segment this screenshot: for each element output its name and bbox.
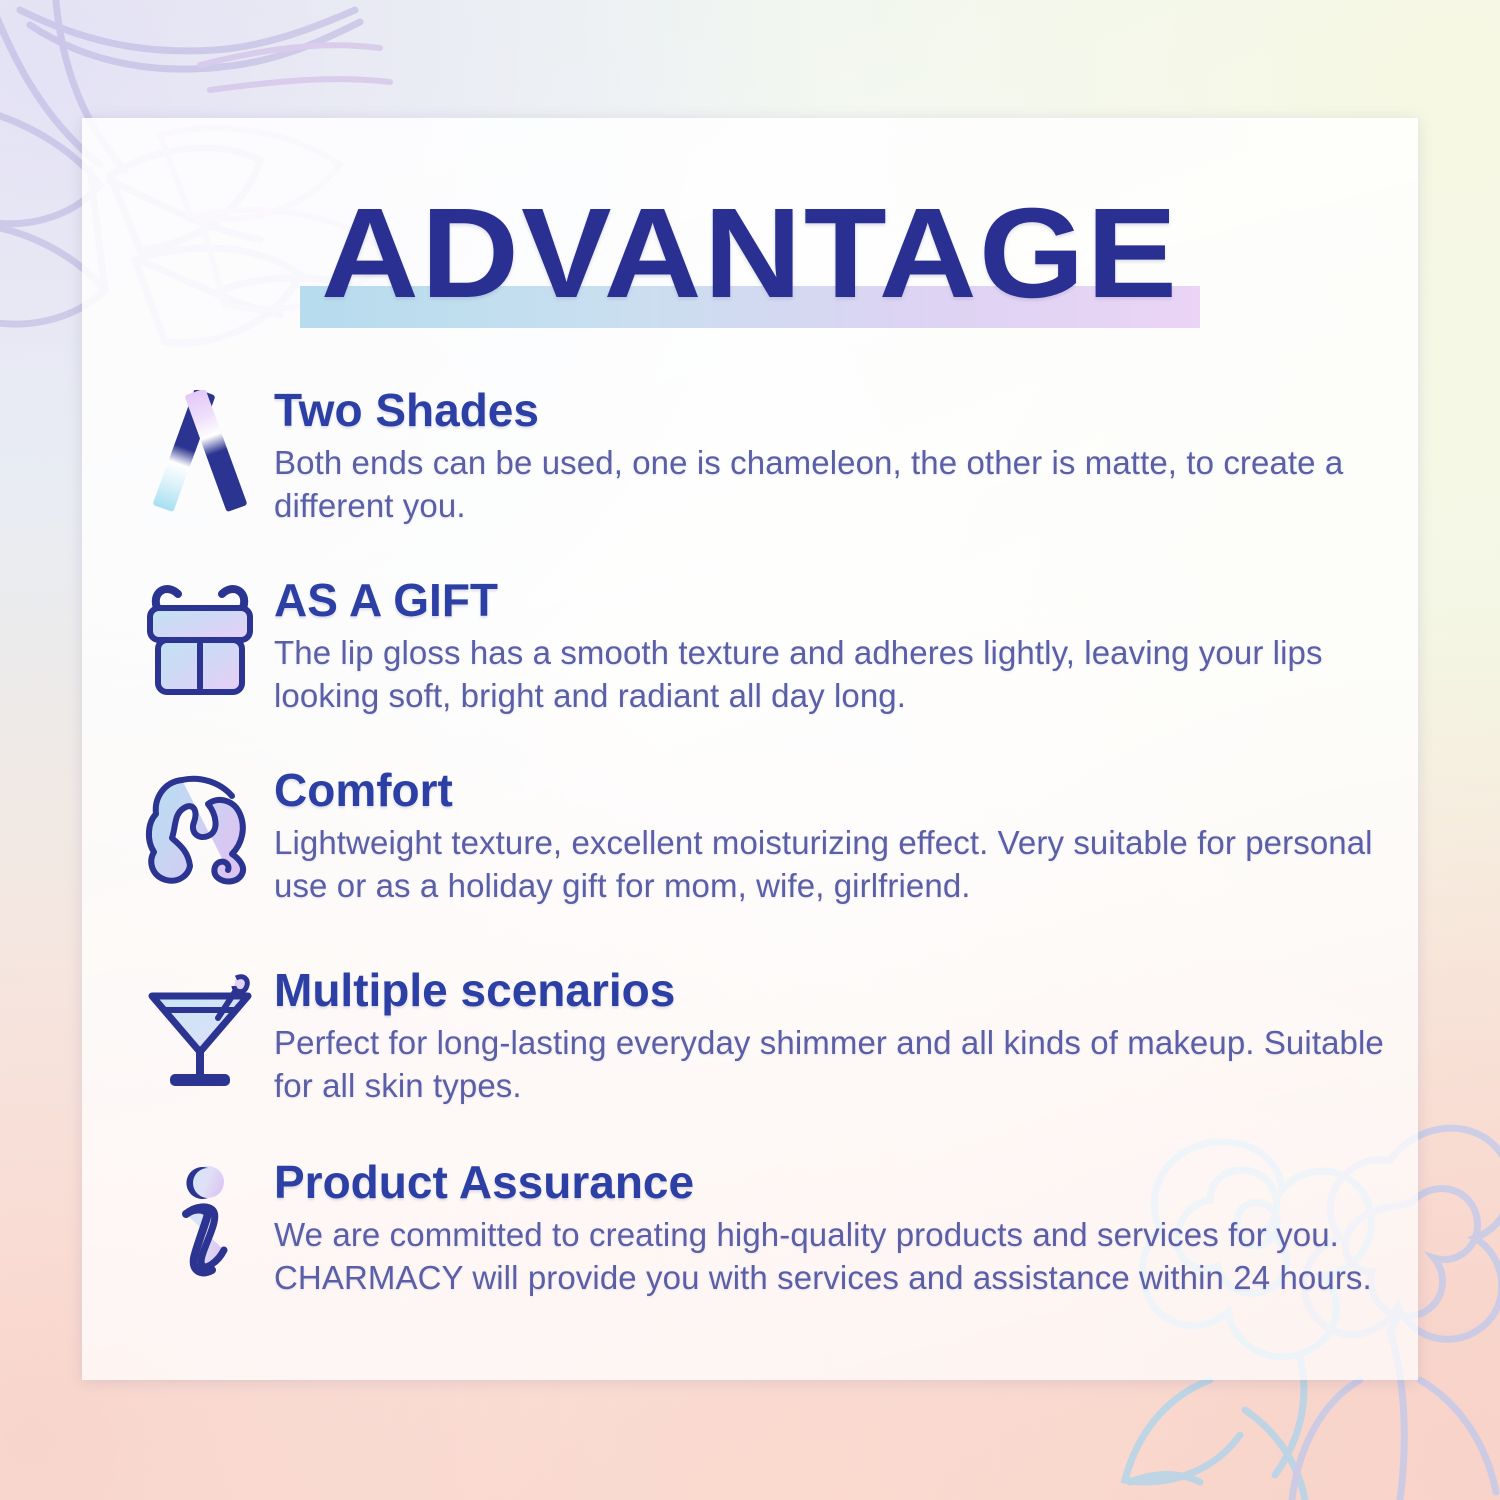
info-italic-i-icon — [152, 1162, 248, 1288]
feature-description: Lightweight texture, excellent moisturiz… — [274, 822, 1400, 908]
feature-title: Two Shades — [274, 386, 1400, 435]
feature-icon-slot — [130, 966, 270, 1094]
page-title-wrap: ADVANTAGE — [82, 190, 1418, 318]
feature-text: Two Shades Both ends can be used, one is… — [270, 386, 1400, 528]
feature-title: Product Assurance — [274, 1158, 1400, 1207]
gift-box-icon — [144, 580, 256, 698]
cocktail-glass-icon — [144, 970, 256, 1094]
feature-icon-slot — [130, 576, 270, 698]
feature-item: Two Shades Both ends can be used, one is… — [130, 386, 1400, 528]
feature-item: Product Assurance We are committed to cr… — [130, 1158, 1400, 1300]
feature-item: AS A GIFT The lip gloss has a smooth tex… — [130, 576, 1400, 718]
feature-icon-slot — [130, 766, 270, 888]
content-card: ADVANTAGE — [82, 118, 1418, 1380]
feature-text: Product Assurance We are committed to cr… — [270, 1158, 1400, 1300]
feature-icon-slot — [130, 1158, 270, 1288]
feature-description: Both ends can be used, one is chameleon,… — [274, 442, 1400, 528]
feature-title: Comfort — [274, 766, 1400, 815]
page-title: ADVANTAGE — [42, 190, 1458, 318]
feature-title: AS A GIFT — [274, 576, 1400, 625]
feature-item: Multiple scenarios Perfect for long-last… — [130, 966, 1400, 1108]
feature-description: The lip gloss has a smooth texture and a… — [274, 632, 1400, 718]
feature-title: Multiple scenarios — [274, 966, 1400, 1015]
feature-description: We are committed to creating high-qualit… — [274, 1214, 1400, 1300]
flowing-hair-icon — [142, 770, 258, 888]
feature-text: AS A GIFT The lip gloss has a smooth tex… — [270, 576, 1400, 718]
feature-description: Perfect for long-lasting everyday shimme… — [274, 1022, 1400, 1108]
feature-item: Comfort Lightweight texture, excellent m… — [130, 766, 1400, 908]
poster-canvas: ADVANTAGE — [0, 0, 1500, 1500]
feature-text: Comfort Lightweight texture, excellent m… — [270, 766, 1400, 908]
crossed-lipstick-sticks-icon — [150, 390, 250, 522]
feature-icon-slot — [130, 386, 270, 522]
feature-text: Multiple scenarios Perfect for long-last… — [270, 966, 1400, 1108]
